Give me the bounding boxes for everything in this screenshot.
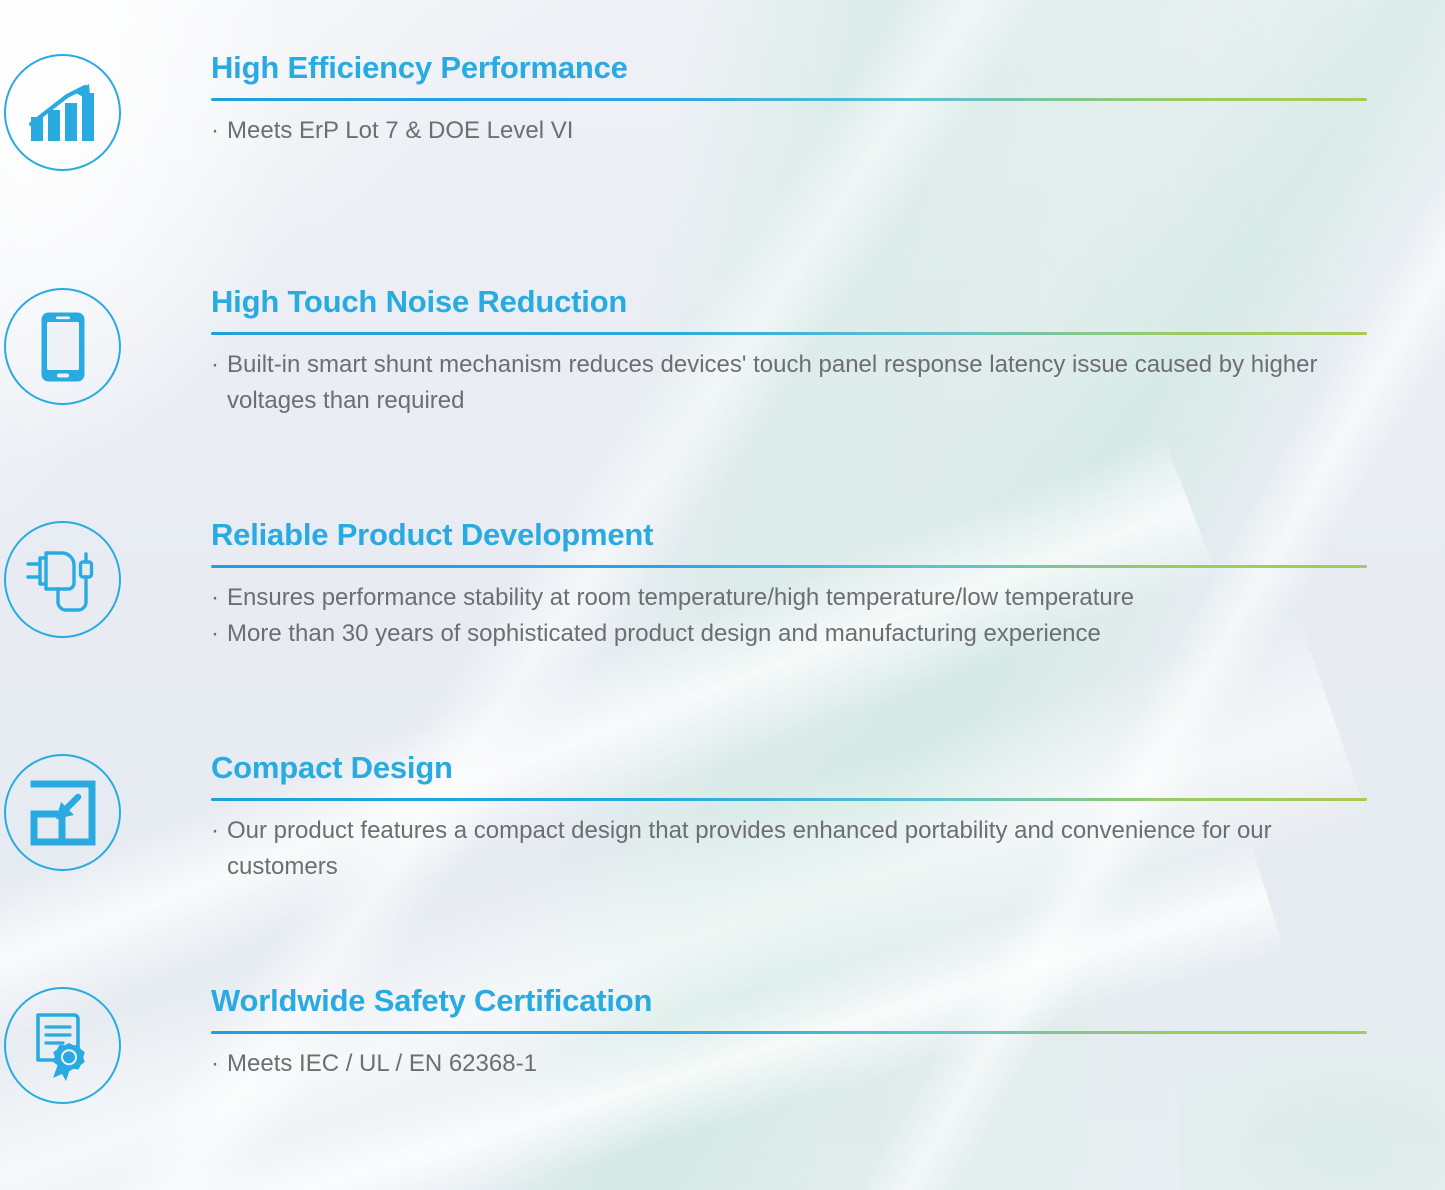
bullet-marker: ·: [211, 1046, 227, 1082]
bullet-item: · Meets ErP Lot 7 & DOE Level VI: [211, 113, 1367, 149]
bullet-text: Our product features a compact design th…: [227, 813, 1367, 886]
bullet-marker: ·: [211, 347, 227, 383]
feature-bullets: · Ensures performance stability at room …: [211, 580, 1367, 653]
icon-circle: [4, 521, 121, 638]
smartphone-icon: [40, 311, 86, 383]
feature-divider: [211, 332, 1367, 335]
bullet-item: · Ensures performance stability at room …: [211, 580, 1367, 616]
feature-content: High Touch Noise Reduction · Built-in sm…: [125, 286, 1445, 419]
feature-title: High Touch Noise Reduction: [211, 286, 1367, 319]
feature-content: Reliable Product Development · Ensures p…: [125, 519, 1445, 652]
bullet-item: · Meets IEC / UL / EN 62368-1: [211, 1046, 1367, 1082]
bullet-marker: ·: [211, 580, 227, 616]
feature-divider: [211, 565, 1367, 568]
feature-icon-wrap: [0, 985, 125, 1104]
feature-content: High Efficiency Performance · Meets ErP …: [125, 52, 1445, 149]
certificate-award-icon: [30, 1010, 96, 1082]
bullet-item: · Our product features a compact design …: [211, 813, 1367, 886]
bullet-marker: ·: [211, 616, 227, 652]
feature-divider: [211, 798, 1367, 801]
bullet-text: Meets IEC / UL / EN 62368-1: [227, 1046, 1367, 1082]
feature-item-compact-design: Compact Design · Our product features a …: [0, 752, 1445, 885]
feature-title: Reliable Product Development: [211, 519, 1367, 552]
feature-bullets: · Meets IEC / UL / EN 62368-1: [211, 1046, 1367, 1082]
bullet-item: · Built-in smart shunt mechanism reduces…: [211, 347, 1367, 420]
power-adapter-icon: [22, 544, 104, 616]
feature-title: Worldwide Safety Certification: [211, 985, 1367, 1018]
feature-icon-wrap: [0, 752, 125, 871]
bullet-text: More than 30 years of sophisticated prod…: [227, 616, 1367, 652]
bullet-text: Meets ErP Lot 7 & DOE Level VI: [227, 113, 1367, 149]
feature-icon-wrap: [0, 286, 125, 405]
feature-divider: [211, 98, 1367, 101]
icon-circle: [4, 987, 121, 1104]
feature-item-worldwide-safety-certification: Worldwide Safety Certification · Meets I…: [0, 985, 1445, 1104]
feature-bullets: · Meets ErP Lot 7 & DOE Level VI: [211, 113, 1367, 149]
feature-content: Worldwide Safety Certification · Meets I…: [125, 985, 1445, 1082]
feature-item-high-efficiency-performance: High Efficiency Performance · Meets ErP …: [0, 52, 1445, 171]
compact-resize-icon: [30, 780, 96, 846]
feature-item-reliable-product-development: Reliable Product Development · Ensures p…: [0, 519, 1445, 652]
feature-divider: [211, 1031, 1367, 1034]
bullet-item: · More than 30 years of sophisticated pr…: [211, 616, 1367, 652]
feature-title: High Efficiency Performance: [211, 52, 1367, 85]
bullet-marker: ·: [211, 113, 227, 149]
bullet-marker: ·: [211, 813, 227, 849]
feature-title: Compact Design: [211, 752, 1367, 785]
feature-highlights-page: High Efficiency Performance · Meets ErP …: [0, 0, 1445, 1190]
feature-content: Compact Design · Our product features a …: [125, 752, 1445, 885]
icon-circle: [4, 288, 121, 405]
icon-circle: [4, 54, 121, 171]
feature-bullets: · Our product features a compact design …: [211, 813, 1367, 886]
feature-bullets: · Built-in smart shunt mechanism reduces…: [211, 347, 1367, 420]
bar-chart-growth-icon: [27, 80, 99, 146]
bullet-text: Built-in smart shunt mechanism reduces d…: [227, 347, 1367, 420]
bullet-text: Ensures performance stability at room te…: [227, 580, 1367, 616]
feature-icon-wrap: [0, 52, 125, 171]
icon-circle: [4, 754, 121, 871]
feature-icon-wrap: [0, 519, 125, 638]
feature-item-high-touch-noise-reduction: High Touch Noise Reduction · Built-in sm…: [0, 286, 1445, 419]
